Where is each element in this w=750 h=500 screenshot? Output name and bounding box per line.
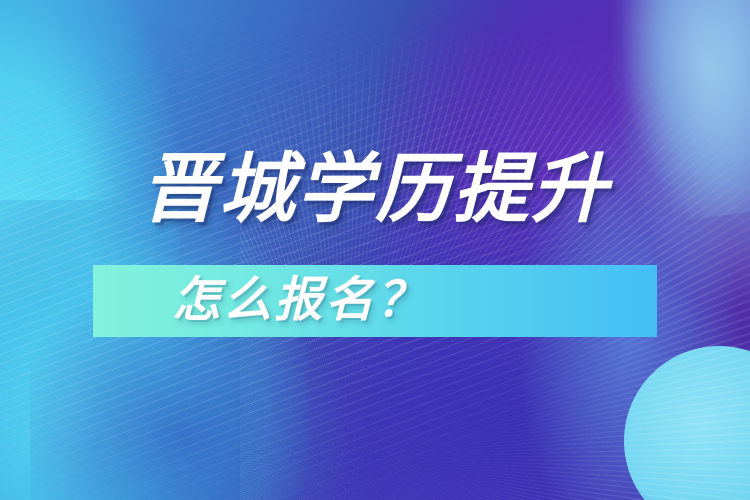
banner-content: 晋城学历提升 怎么报名？ <box>0 0 750 500</box>
banner-headline: 晋城学历提升 <box>0 152 750 228</box>
promo-banner: 晋城学历提升 怎么报名？ <box>0 0 750 500</box>
subtitle-highlight-bar: 怎么报名？ <box>93 265 657 337</box>
banner-subtitle: 怎么报名？ <box>93 277 657 325</box>
